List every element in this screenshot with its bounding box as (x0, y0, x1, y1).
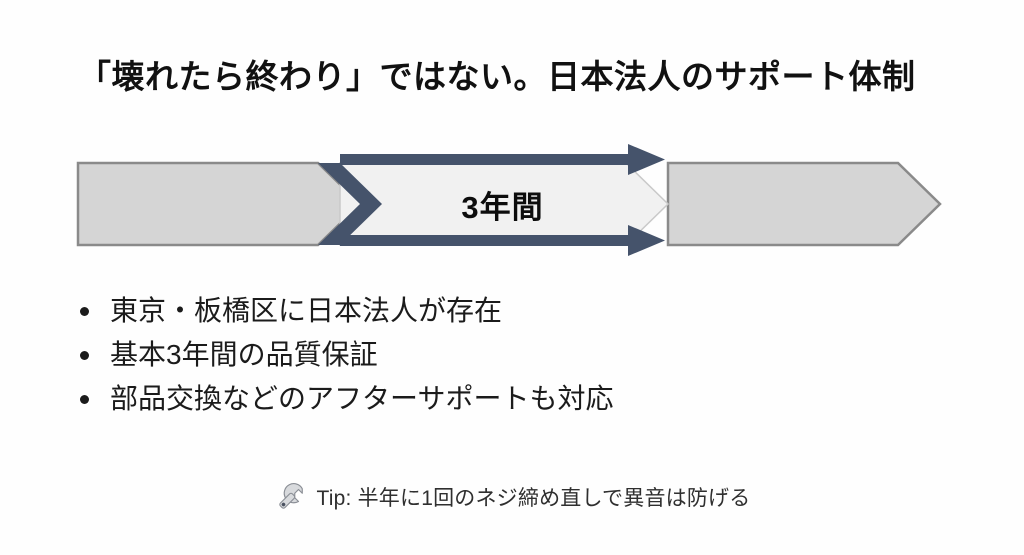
page-title: 「壊れたら終わり」ではない。日本法人のサポート体制 (78, 56, 978, 97)
list-item-label: 東京・板橋区に日本法人が存在 (110, 295, 502, 326)
tip-text: Tip: 半年に1回のネジ締め直しで異音は防げる (317, 482, 751, 512)
feature-bullet-list: 東京・板橋区に日本法人が存在 基本3年間の品質保証 部品交換などのアフターサポー… (78, 289, 938, 421)
list-item: 東京・板橋区に日本法人が存在 (78, 289, 938, 333)
bullet-dot-icon (80, 395, 89, 404)
wrench-icon (274, 480, 308, 514)
bullet-dot-icon (80, 307, 89, 316)
list-item: 部品交換などのアフターサポートも対応 (78, 377, 938, 421)
bullet-dot-icon (80, 351, 89, 360)
chevron-segment-after (668, 163, 940, 245)
list-item: 基本3年間の品質保証 (78, 333, 938, 377)
chevron-segment-warranty (340, 163, 668, 245)
list-item-label: 基本3年間の品質保証 (110, 339, 378, 370)
tip-row: Tip: 半年に1回のネジ締め直しで異音は防げる (0, 480, 1024, 514)
process-diagram (0, 140, 1024, 260)
list-item-label: 部品交換などのアフターサポートも対応 (110, 383, 613, 414)
